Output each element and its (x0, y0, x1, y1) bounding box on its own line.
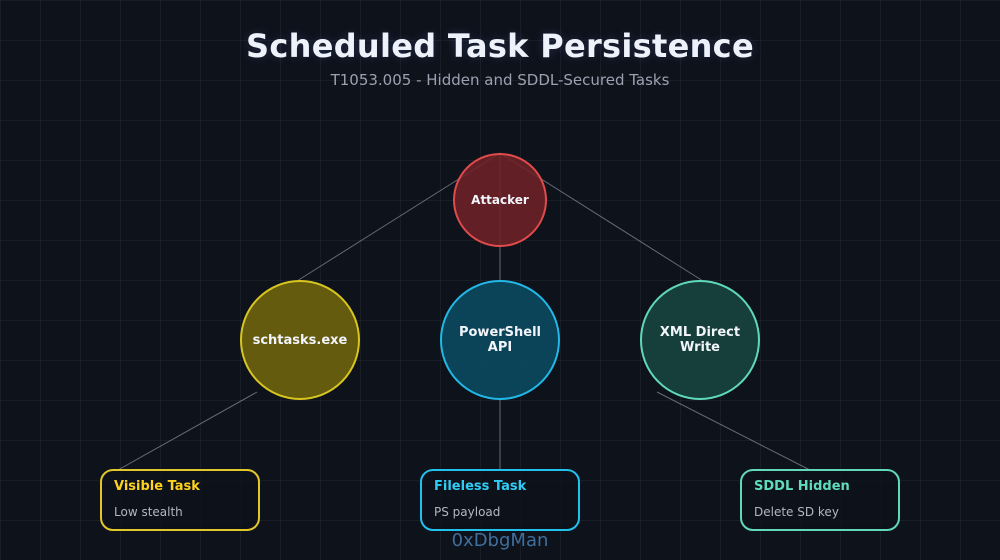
node-powershell[interactable]: PowerShell API (440, 280, 560, 400)
outcome-box-visible-task[interactable]: Visible Task Low stealth (100, 469, 260, 531)
outcome-box-sddl-hidden[interactable]: SDDL Hidden Delete SD key (740, 469, 900, 531)
outcome-subtitle-sddl-hidden: Delete SD key (754, 505, 886, 519)
node-schtasks[interactable]: schtasks.exe (240, 280, 360, 400)
outcome-title-sddl-hidden: SDDL Hidden (754, 479, 886, 495)
diagram-canvas: Scheduled Task Persistence T1053.005 - H… (0, 0, 1000, 560)
node-xmlwrite-label: XML Direct Write (642, 325, 758, 355)
header: Scheduled Task Persistence T1053.005 - H… (0, 26, 1000, 90)
outcome-title-fileless-task: Fileless Task (434, 479, 566, 495)
outcome-title-visible-task: Visible Task (114, 479, 246, 495)
watermark: 0xDbgMan (0, 530, 1000, 552)
page-title: Scheduled Task Persistence (0, 26, 1000, 66)
node-attacker[interactable]: Attacker (453, 153, 547, 247)
edge-schtasks-visible (118, 392, 257, 470)
edge-xmlwrite-sddl (657, 392, 810, 470)
node-attacker-label: Attacker (465, 193, 535, 208)
node-schtasks-label: schtasks.exe (247, 333, 354, 348)
outcome-box-fileless-task[interactable]: Fileless Task PS payload (420, 469, 580, 531)
outcome-subtitle-fileless-task: PS payload (434, 505, 566, 519)
node-xmlwrite[interactable]: XML Direct Write (640, 280, 760, 400)
node-powershell-label: PowerShell API (442, 325, 558, 355)
outcome-subtitle-visible-task: Low stealth (114, 505, 246, 519)
page-subtitle: T1053.005 - Hidden and SDDL-Secured Task… (0, 70, 1000, 90)
